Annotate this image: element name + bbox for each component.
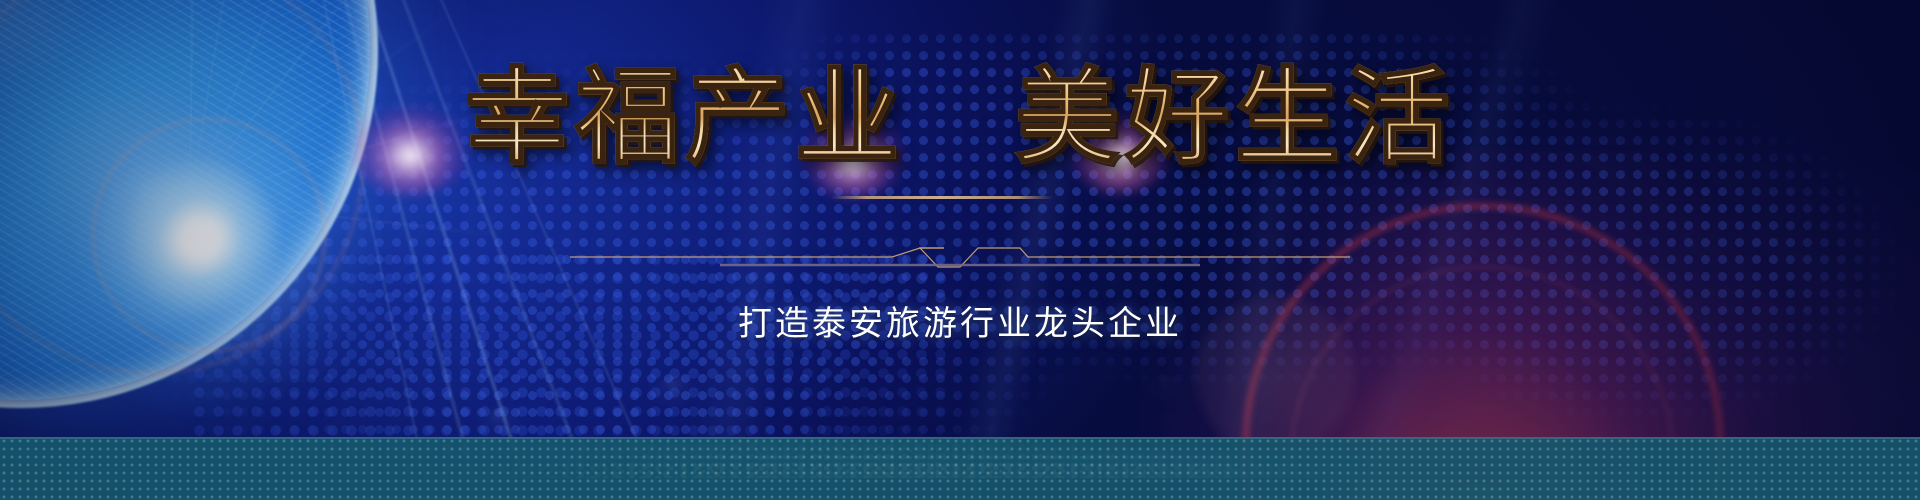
title-underline <box>831 196 1053 199</box>
teal-footer-bar <box>0 437 1920 500</box>
page-subtitle: 打造泰安旅游行业龙头企业 <box>0 296 1920 345</box>
page-title: 幸福产业 美好生活 <box>465 62 1455 172</box>
footer-bar-dot-texture <box>0 437 1920 500</box>
divider-svg <box>570 246 1350 272</box>
headline-block: 幸福产业 美好生活 <box>0 62 1920 172</box>
gold-divider-with-v-notch <box>0 246 1920 272</box>
hero-banner: 幸福产业 美好生活 打造泰安旅游行业龙头企业 <box>0 0 1920 500</box>
